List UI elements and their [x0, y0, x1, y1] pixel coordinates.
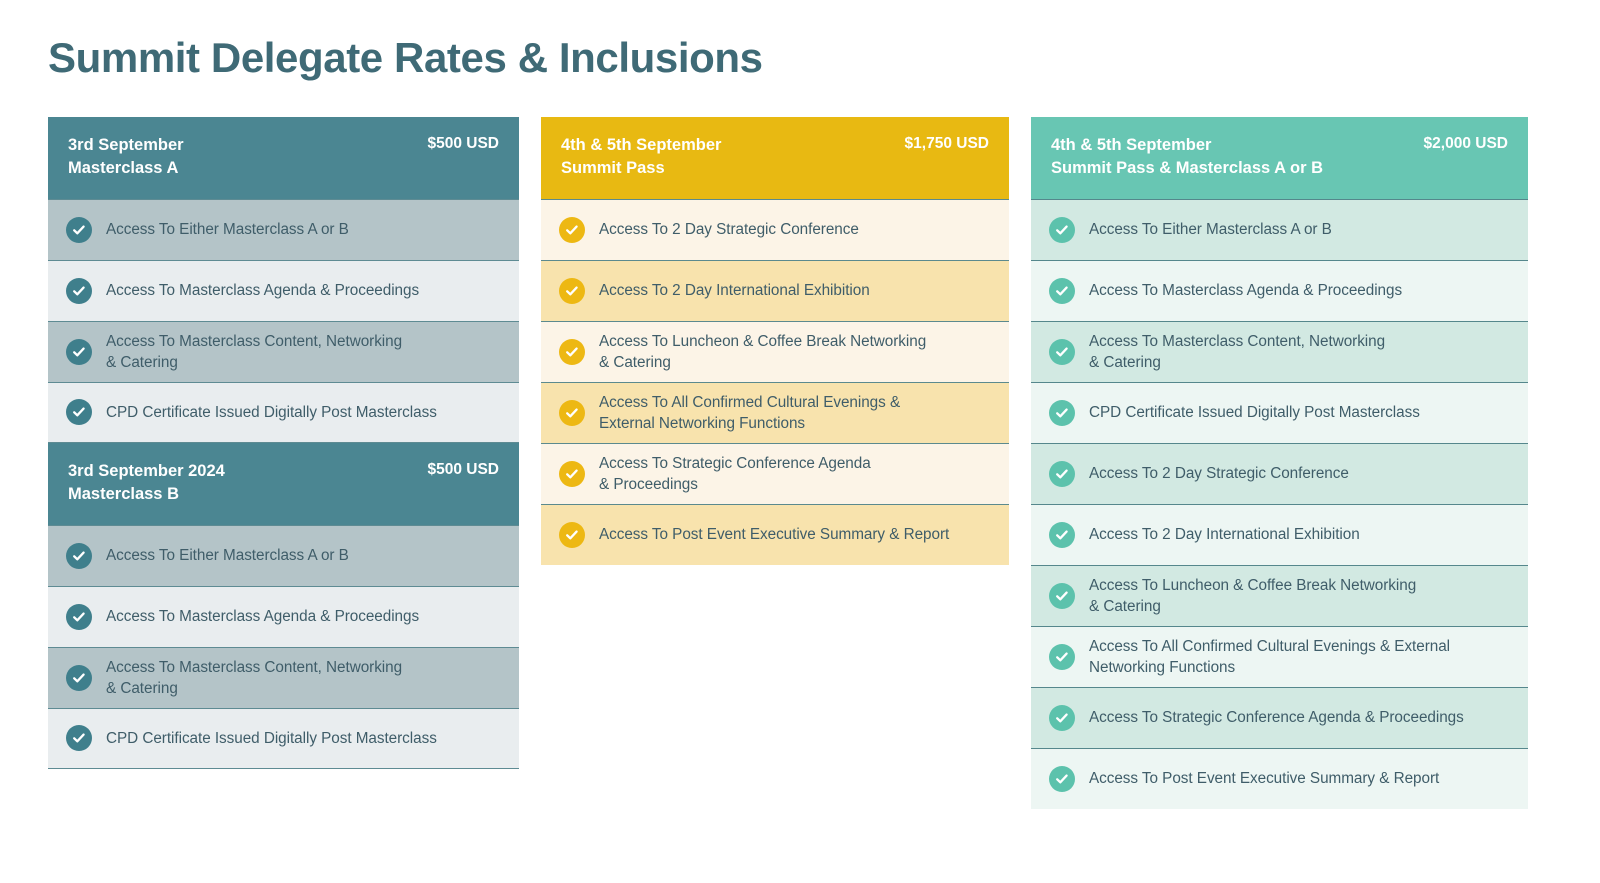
inclusion-row: Access To Either Masterclass A or B	[1031, 199, 1528, 260]
column-summit-pass-masterclass: 4th & 5th SeptemberSummit Pass & Masterc…	[1031, 117, 1528, 809]
package-name: Summit Pass	[561, 157, 721, 180]
inclusion-row: Access To Strategic Conference Agenda& P…	[541, 443, 1009, 504]
inclusion-label: CPD Certificate Issued Digitally Post Ma…	[106, 402, 437, 423]
inclusion-row: Access To Masterclass Agenda & Proceedin…	[1031, 260, 1528, 321]
block-masterclass-a: 3rd SeptemberMasterclass A$500 USDAccess…	[48, 117, 519, 443]
inclusion-row: Access To Masterclass Agenda & Proceedin…	[48, 586, 519, 647]
inclusion-label: Access To Post Event Executive Summary &…	[599, 524, 949, 545]
column-masterclass: 3rd SeptemberMasterclass A$500 USDAccess…	[48, 117, 519, 769]
inclusion-label: Access To Strategic Conference Agenda & …	[1089, 707, 1464, 728]
inclusion-row: Access To All Confirmed Cultural Evening…	[541, 382, 1009, 443]
block-masterclass-b: 3rd September 2024Masterclass B$500 USDA…	[48, 443, 519, 769]
inclusion-row: CPD Certificate Issued Digitally Post Ma…	[48, 382, 519, 443]
inclusion-row: Access To Either Masterclass A or B	[48, 525, 519, 586]
inclusion-row: Access To Strategic Conference Agenda & …	[1031, 687, 1528, 748]
column-summit-pass: 4th & 5th SeptemberSummit Pass$1,750 USD…	[541, 117, 1009, 565]
check-circle-icon	[66, 399, 92, 425]
check-circle-icon	[1049, 766, 1075, 792]
check-circle-icon	[66, 665, 92, 691]
inclusion-label: Access To 2 Day International Exhibition	[599, 280, 870, 301]
package-header: 4th & 5th SeptemberSummit Pass & Masterc…	[1031, 117, 1528, 199]
package-name: Masterclass A	[68, 157, 184, 180]
inclusion-row: Access To 2 Day International Exhibition	[541, 260, 1009, 321]
inclusion-row: Access To Luncheon & Coffee Break Networ…	[541, 321, 1009, 382]
check-circle-icon	[1049, 278, 1075, 304]
package-header-text: 4th & 5th SeptemberSummit Pass	[561, 134, 721, 181]
inclusion-label: Access To Either Masterclass A or B	[106, 219, 349, 240]
inclusion-row: Access To 2 Day International Exhibition	[1031, 504, 1528, 565]
inclusion-label: Access To Masterclass Content, Networkin…	[106, 331, 402, 373]
inclusion-label: Access To Masterclass Content, Networkin…	[1089, 331, 1385, 373]
inclusion-row: Access To 2 Day Strategic Conference	[1031, 443, 1528, 504]
package-name: Masterclass B	[68, 483, 225, 506]
inclusion-label: Access To Either Masterclass A or B	[106, 545, 349, 566]
package-price: $500 USD	[427, 460, 499, 479]
inclusion-label: Access To 2 Day Strategic Conference	[599, 219, 859, 240]
package-header: 3rd September 2024Masterclass B$500 USD	[48, 443, 519, 525]
inclusion-row: Access To All Confirmed Cultural Evening…	[1031, 626, 1528, 687]
inclusion-row: Access To Masterclass Agenda & Proceedin…	[48, 260, 519, 321]
inclusion-label: Access To Luncheon & Coffee Break Networ…	[1089, 575, 1416, 617]
check-circle-icon	[559, 278, 585, 304]
package-header: 3rd SeptemberMasterclass A$500 USD	[48, 117, 519, 199]
inclusion-label: Access To Luncheon & Coffee Break Networ…	[599, 331, 926, 373]
package-header-text: 3rd September 2024Masterclass B	[68, 460, 225, 507]
block-summit-pass: 4th & 5th SeptemberSummit Pass$1,750 USD…	[541, 117, 1009, 565]
inclusion-label: Access To Either Masterclass A or B	[1089, 219, 1332, 240]
package-header: 4th & 5th SeptemberSummit Pass$1,750 USD	[541, 117, 1009, 199]
inclusion-row: CPD Certificate Issued Digitally Post Ma…	[1031, 382, 1528, 443]
package-date: 4th & 5th September	[1051, 134, 1323, 157]
check-circle-icon	[66, 604, 92, 630]
check-circle-icon	[559, 217, 585, 243]
pricing-table-page: Summit Delegate Rates & Inclusions 3rd S…	[0, 0, 1600, 883]
inclusion-label: Access To Masterclass Content, Networkin…	[106, 657, 402, 699]
inclusion-label: Access To Masterclass Agenda & Proceedin…	[106, 606, 419, 627]
check-circle-icon	[1049, 400, 1075, 426]
check-circle-icon	[1049, 217, 1075, 243]
inclusion-label: CPD Certificate Issued Digitally Post Ma…	[1089, 402, 1420, 423]
package-price: $500 USD	[427, 134, 499, 153]
check-circle-icon	[1049, 339, 1075, 365]
inclusion-label: Access To Post Event Executive Summary &…	[1089, 768, 1439, 789]
check-circle-icon	[66, 339, 92, 365]
inclusion-row: Access To 2 Day Strategic Conference	[541, 199, 1009, 260]
block-summit-pass-masterclass: 4th & 5th SeptemberSummit Pass & Masterc…	[1031, 117, 1528, 809]
inclusion-label: Access To Masterclass Agenda & Proceedin…	[106, 280, 419, 301]
check-circle-icon	[1049, 644, 1075, 670]
check-circle-icon	[559, 461, 585, 487]
inclusion-label: Access To All Confirmed Cultural Evening…	[1089, 636, 1450, 678]
check-circle-icon	[1049, 705, 1075, 731]
package-date: 3rd September	[68, 134, 184, 157]
inclusion-row: Access To Post Event Executive Summary &…	[541, 504, 1009, 565]
check-circle-icon	[559, 522, 585, 548]
inclusion-label: Access To 2 Day International Exhibition	[1089, 524, 1360, 545]
inclusion-row: Access To Luncheon & Coffee Break Networ…	[1031, 565, 1528, 626]
inclusion-label: CPD Certificate Issued Digitally Post Ma…	[106, 728, 437, 749]
inclusion-row: CPD Certificate Issued Digitally Post Ma…	[48, 708, 519, 769]
package-header-text: 3rd SeptemberMasterclass A	[68, 134, 184, 181]
inclusion-row: Access To Masterclass Content, Networkin…	[48, 321, 519, 382]
inclusion-row: Access To Masterclass Content, Networkin…	[48, 647, 519, 708]
check-circle-icon	[559, 400, 585, 426]
page-title: Summit Delegate Rates & Inclusions	[48, 34, 763, 82]
check-circle-icon	[66, 278, 92, 304]
pricing-columns: 3rd SeptemberMasterclass A$500 USDAccess…	[48, 117, 1552, 809]
check-circle-icon	[66, 543, 92, 569]
package-header-text: 4th & 5th SeptemberSummit Pass & Masterc…	[1051, 134, 1323, 181]
inclusion-row: Access To Post Event Executive Summary &…	[1031, 748, 1528, 809]
check-circle-icon	[1049, 461, 1075, 487]
check-circle-icon	[66, 217, 92, 243]
inclusion-row: Access To Either Masterclass A or B	[48, 199, 519, 260]
inclusion-label: Access To All Confirmed Cultural Evening…	[599, 392, 900, 434]
package-price: $1,750 USD	[905, 134, 989, 153]
inclusion-label: Access To Strategic Conference Agenda& P…	[599, 453, 871, 495]
check-circle-icon	[1049, 583, 1075, 609]
package-date: 4th & 5th September	[561, 134, 721, 157]
check-circle-icon	[559, 339, 585, 365]
inclusion-row: Access To Masterclass Content, Networkin…	[1031, 321, 1528, 382]
inclusion-label: Access To Masterclass Agenda & Proceedin…	[1089, 280, 1402, 301]
package-date: 3rd September 2024	[68, 460, 225, 483]
check-circle-icon	[66, 725, 92, 751]
inclusion-label: Access To 2 Day Strategic Conference	[1089, 463, 1349, 484]
package-name: Summit Pass & Masterclass A or B	[1051, 157, 1323, 180]
package-price: $2,000 USD	[1424, 134, 1508, 153]
check-circle-icon	[1049, 522, 1075, 548]
